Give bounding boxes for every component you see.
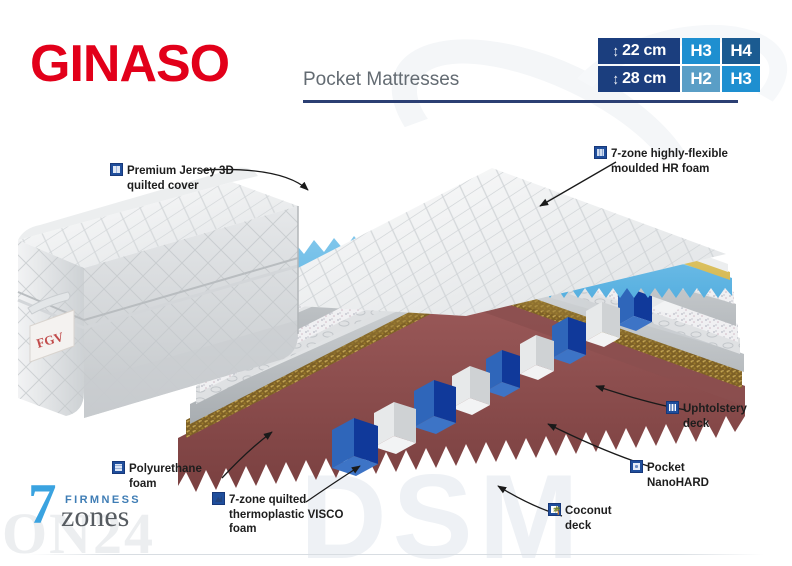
spec-firmness-1b: H4 bbox=[722, 38, 760, 64]
callout-premium-jersey: Premium Jersey 3D quilted cover bbox=[110, 163, 234, 193]
height-arrow-icon: ↕ bbox=[613, 44, 619, 59]
callout-coconut-line1: Coconut bbox=[565, 505, 612, 517]
callout-nanohard-line1: Pocket bbox=[647, 462, 685, 474]
specification-table: ↕22 cm H3 H4 ↕28 cm H2 H3 bbox=[598, 38, 760, 92]
jersey-icon bbox=[110, 163, 123, 176]
callout-pocket-nanohard: Pocket NanoHARD bbox=[630, 460, 709, 490]
spec-height-row2: ↕28 cm bbox=[598, 66, 680, 92]
callout-premium-jersey-line1: Premium Jersey 3D bbox=[127, 165, 234, 177]
callout-hr-foam-line2: moulded HR foam bbox=[594, 162, 728, 177]
header-divider bbox=[303, 100, 738, 103]
spec-firmness-2a: H2 bbox=[682, 66, 720, 92]
zones-word-zones: zones bbox=[61, 502, 129, 532]
callout-visco-line2: thermoplastic VISCO bbox=[212, 508, 343, 523]
callout-premium-jersey-line2: quilted cover bbox=[110, 179, 234, 194]
callout-hr-foam: 7-zone highly-flexible moulded HR foam bbox=[594, 146, 728, 176]
product-infographic: ON24 DSM GINASO Pocket Mattresses ↕22 cm… bbox=[0, 0, 792, 566]
callout-hr-foam-line1: 7-zone highly-flexible bbox=[611, 148, 728, 160]
palm-glyph: 🌴 bbox=[552, 506, 559, 515]
callout-upholstery-line1: Uphtolstery bbox=[683, 403, 747, 415]
callout-upholstery-deck: Uphtolstery deck bbox=[666, 401, 747, 431]
footer-divider bbox=[28, 554, 764, 555]
spec-firmness-1a: H3 bbox=[682, 38, 720, 64]
callout-visco-foam: 7-zone quilted thermoplastic VISCO foam bbox=[212, 492, 343, 537]
coconut-icon: 🌴 bbox=[548, 503, 561, 516]
nanohard-icon bbox=[630, 460, 643, 473]
page-title: GINASO bbox=[30, 38, 229, 90]
callout-coconut-deck: 🌴Coconut deck bbox=[548, 503, 612, 533]
polyurethane-icon bbox=[112, 461, 125, 474]
zones-number: 7 bbox=[28, 476, 57, 533]
header: GINASO Pocket Mattresses ↕22 cm H3 H4 ↕2… bbox=[0, 0, 792, 118]
spec-firmness-2b: H3 bbox=[722, 66, 760, 92]
callout-upholstery-line2: deck bbox=[666, 417, 747, 432]
callout-coconut-line2: deck bbox=[548, 519, 612, 534]
callout-visco-line3: foam bbox=[212, 522, 343, 537]
visco-icon bbox=[212, 492, 225, 505]
spec-height-value-1: 22 cm bbox=[622, 42, 666, 60]
callout-nanohard-line2: NanoHARD bbox=[630, 476, 709, 491]
upholstery-icon bbox=[666, 401, 679, 414]
height-arrow-icon-2: ↕ bbox=[613, 72, 619, 87]
hr-foam-icon bbox=[594, 146, 607, 159]
callout-polyurethane-line1: Polyurethane bbox=[129, 463, 202, 475]
spec-height-value-2: 28 cm bbox=[622, 70, 666, 88]
spec-height-row1: ↕22 cm bbox=[598, 38, 680, 64]
firmness-zones-logo: 7 FIRMNESS zones bbox=[28, 478, 158, 534]
callout-visco-line1: 7-zone quilted bbox=[229, 494, 306, 506]
